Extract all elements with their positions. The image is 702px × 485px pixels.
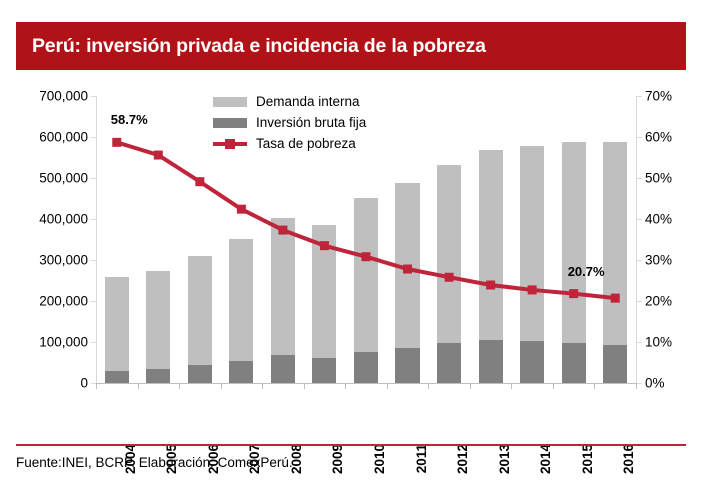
bar-demanda-interna[interactable] [146,271,170,383]
data-label: 58.7% [111,112,148,127]
y-axis-right-tick-label: 70% [645,89,672,104]
y-axis-right-tick [637,137,642,138]
bar-inversion-bruta-fija[interactable] [603,345,627,383]
bar-inversion-bruta-fija[interactable] [146,369,170,383]
chart-page: Perú: inversión privada e incidencia de … [0,0,702,485]
legend-line-marker-icon [225,139,235,149]
x-axis-tick [636,384,637,389]
bar-inversion-bruta-fija[interactable] [437,343,461,383]
bar-group[interactable] [188,256,212,383]
y-axis-right-labels: 0%10%20%30%40%50%60%70% [645,78,702,438]
y-axis-left-tick-label: 100,000 [2,335,88,350]
bar-group[interactable] [105,277,129,383]
y-axis-left-labels: 0100,000200,000300,000400,000500,000600,… [0,78,88,438]
x-axis-line [96,383,637,384]
bar-demanda-interna[interactable] [188,256,212,383]
legend-line-icon [213,138,247,150]
x-axis-tick [221,384,222,389]
x-axis-tick-label: 2016 [621,444,636,474]
y-axis-right-line [636,96,637,384]
y-axis-right-tick [637,383,642,384]
y-axis-left-tick-label: 300,000 [2,253,88,268]
legend-swatch-icon [213,97,247,107]
bar-inversion-bruta-fija[interactable] [271,355,295,383]
bar-inversion-bruta-fija[interactable] [188,365,212,383]
chart-legend: Demanda internaInversión bruta fijaTasa … [213,91,443,154]
bar-inversion-bruta-fija[interactable] [312,358,336,383]
legend-label: Inversión bruta fija [256,115,366,130]
x-axis-tick [594,384,595,389]
x-axis-tick-label: 2014 [538,444,553,474]
legend-label: Tasa de pobreza [256,136,356,151]
y-axis-right-tick [637,219,642,220]
y-axis-right-tick-label: 20% [645,294,672,309]
chart-container: 0100,000200,000300,000400,000500,000600,… [0,78,702,438]
x-axis-tick [387,384,388,389]
bar-group[interactable] [520,146,544,383]
x-axis-tick-label: 2010 [372,444,387,474]
bar-group[interactable] [146,271,170,383]
bar-group[interactable] [603,142,627,383]
bar-group[interactable] [437,165,461,383]
x-axis-tick [553,384,554,389]
x-axis-tick-label: 2012 [455,444,470,474]
x-axis-labels: 2004200520062007200820092010201120122013… [96,392,636,452]
bar-group[interactable] [395,183,419,383]
y-axis-right-tick-label: 60% [645,130,672,145]
y-axis-left-tick [91,96,96,97]
x-axis-tick-label: 2013 [497,444,512,474]
y-axis-right-tick-label: 40% [645,212,672,227]
legend-label: Demanda interna [256,94,360,109]
y-axis-left-tick [91,301,96,302]
y-axis-right-tick [637,260,642,261]
x-axis-tick-label: 2015 [580,444,595,474]
x-axis-tick [428,384,429,389]
poverty-rate-marker[interactable] [195,177,204,186]
bar-inversion-bruta-fija[interactable] [520,341,544,383]
legend-item[interactable]: Inversión bruta fija [213,112,443,133]
x-axis-tick [511,384,512,389]
y-axis-left-tick-label: 700,000 [2,89,88,104]
legend-item[interactable]: Demanda interna [213,91,443,112]
bar-demanda-interna[interactable] [105,277,129,383]
bar-inversion-bruta-fija[interactable] [479,340,503,383]
poverty-rate-marker[interactable] [112,138,121,147]
y-axis-left-tick-label: 0 [2,376,88,391]
bar-group[interactable] [312,225,336,383]
y-axis-right-tick-label: 50% [645,171,672,186]
page-title: Perú: inversión privada e incidencia de … [16,35,486,58]
x-axis-tick [179,384,180,389]
x-axis-tick [262,384,263,389]
x-axis-tick [470,384,471,389]
y-axis-right-tick [637,178,642,179]
legend-item[interactable]: Tasa de pobreza [213,133,443,154]
y-axis-right-tick [637,96,642,97]
x-axis-tick-label: 2009 [330,444,345,474]
y-axis-left-tick-label: 200,000 [2,294,88,309]
x-axis-tick [345,384,346,389]
y-axis-left-tick [91,219,96,220]
poverty-rate-marker[interactable] [237,205,246,214]
y-axis-left-tick-label: 600,000 [2,130,88,145]
x-axis-tick [96,384,97,389]
bar-group[interactable] [562,142,586,383]
data-label: 20.7% [568,264,605,279]
bar-group[interactable] [271,218,295,383]
title-banner: Perú: inversión privada e incidencia de … [16,22,686,70]
y-axis-left-tick [91,137,96,138]
y-axis-right-tick-label: 0% [645,376,665,391]
bar-group[interactable] [479,150,503,383]
x-axis-tick [138,384,139,389]
y-axis-right-tick [637,301,642,302]
bar-inversion-bruta-fija[interactable] [395,348,419,383]
y-axis-left-tick [91,260,96,261]
y-axis-left-tick [91,178,96,179]
x-axis-tick [304,384,305,389]
y-axis-right-tick-label: 30% [645,253,672,268]
footer-divider [16,444,686,446]
y-axis-left-tick-label: 400,000 [2,212,88,227]
y-axis-left-tick [91,342,96,343]
bar-group[interactable] [354,198,378,383]
x-axis-tick-label: 2011 [414,444,429,473]
bar-inversion-bruta-fija[interactable] [354,352,378,383]
y-axis-right-tick-label: 10% [645,335,672,350]
legend-swatch-icon [213,118,247,128]
bar-group[interactable] [229,239,253,383]
poverty-rate-marker[interactable] [154,151,163,160]
bar-inversion-bruta-fija[interactable] [229,361,253,383]
bar-inversion-bruta-fija[interactable] [562,343,586,383]
bar-inversion-bruta-fija[interactable] [105,371,129,383]
y-axis-right-tick [637,342,642,343]
y-axis-left-tick-label: 500,000 [2,171,88,186]
source-note: Fuente:INEI, BCRP. Elaboración: ComexPer… [16,455,293,470]
